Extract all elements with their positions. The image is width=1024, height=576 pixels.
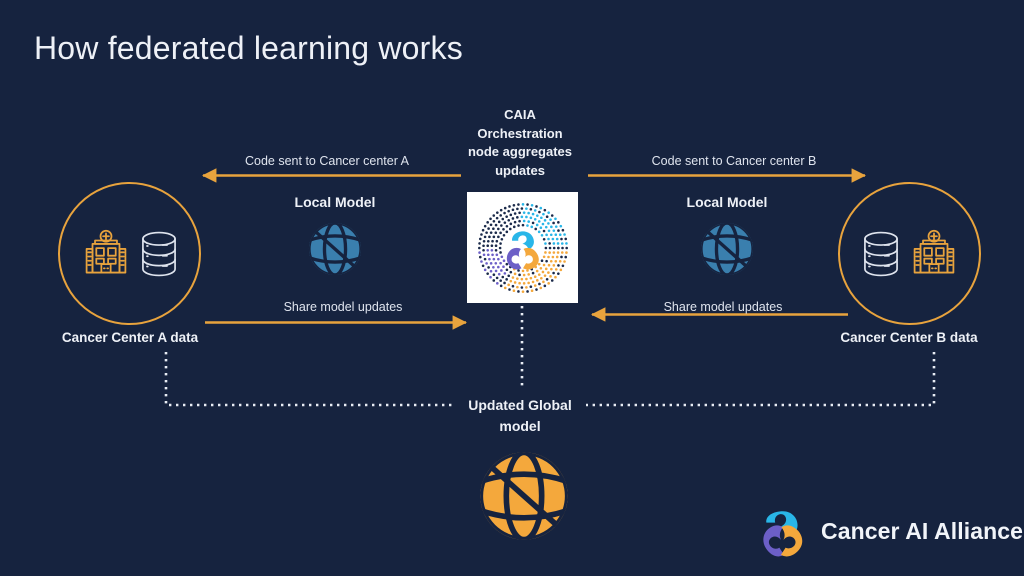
diagram-canvas: How federated learning works	[0, 0, 1024, 576]
globe-icon	[304, 218, 366, 280]
caia-hands-logo-icon	[757, 505, 809, 557]
edge-label-code-to-a: Code sent to Cancer center A	[205, 154, 449, 168]
local-model-b: Local Model	[662, 194, 792, 280]
caia-orchestration-node-card	[467, 192, 578, 303]
database-icon	[859, 229, 903, 279]
node-a-label: Cancer Center A data	[54, 330, 206, 345]
globe-icon	[696, 218, 758, 280]
brand-lockup: Cancer AI Alliance	[757, 505, 1023, 557]
node-b-label: Cancer Center B data	[833, 330, 985, 345]
caia-logo-mark	[506, 231, 538, 269]
hospital-icon	[907, 227, 961, 281]
global-model-globe-wrap	[472, 444, 576, 548]
edge-label-share-from-a: Share model updates	[214, 300, 472, 314]
hospital-icon	[79, 227, 133, 281]
edge-label-share-from-b: Share model updates	[594, 300, 852, 314]
node-cancer-center-a	[58, 182, 201, 325]
dotted-node-a-to-global	[166, 352, 452, 405]
hub-caption: CAIAOrchestrationnode aggregatesupdates	[448, 106, 592, 180]
caia-triskelion-icon	[471, 196, 575, 300]
globe-icon	[472, 444, 576, 548]
local-model-a-globe-wrap	[270, 218, 400, 280]
page-title: How federated learning works	[34, 30, 463, 67]
local-model-a-title: Local Model	[270, 194, 400, 210]
local-model-b-globe-wrap	[662, 218, 792, 280]
edge-label-code-to-b: Code sent to Cancer center B	[600, 154, 868, 168]
database-icon	[137, 229, 181, 279]
node-b-icons	[840, 184, 979, 323]
node-a-icons	[60, 184, 199, 323]
global-model-caption: Updated Globalmodel	[450, 395, 590, 437]
dotted-node-b-to-global	[586, 352, 934, 405]
local-model-a: Local Model	[270, 194, 400, 280]
brand-name: Cancer AI Alliance	[821, 518, 1023, 545]
node-cancer-center-b	[838, 182, 981, 325]
local-model-b-title: Local Model	[662, 194, 792, 210]
